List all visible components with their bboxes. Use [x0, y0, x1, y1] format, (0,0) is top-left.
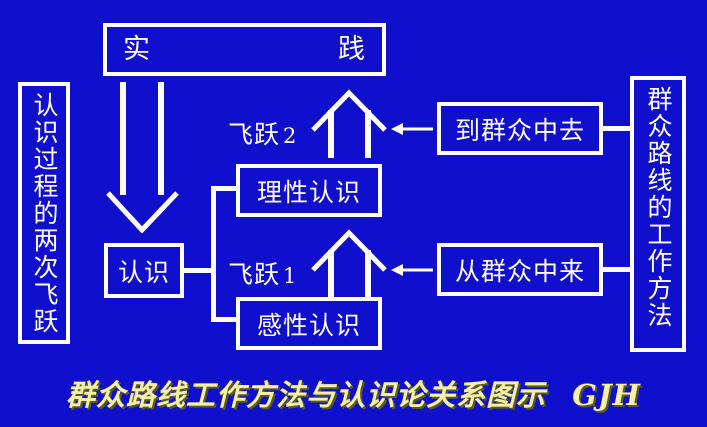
label-leap-one: 飞跃1: [228, 255, 297, 291]
node-perceptual-cognition[interactable]: 感性认识: [236, 297, 382, 350]
connector-bracket-spine: [211, 186, 216, 322]
practice-left-char: 实: [123, 36, 151, 63]
node-practice[interactable]: 实 践: [103, 23, 386, 76]
arrow-left-icon: [391, 260, 435, 280]
arrow-left-icon: [391, 119, 435, 139]
node-to-the-masses-label: 到群众中去: [455, 111, 585, 147]
connector-from-masses-to-right-panel: [601, 267, 633, 272]
diagram-caption: 群众路线工作方法与认识论关系图示GJH: [0, 372, 707, 414]
diagram-canvas: 实 践 认识过程的两次飞跃 群众路线的工作方法 认识 理性认识 感性认识 飞跃2: [0, 0, 707, 427]
connector-to-masses-to-right-panel: [601, 126, 633, 131]
label-leap-two: 飞跃2: [228, 115, 297, 151]
node-rational-cognition-label: 理性认识: [257, 173, 361, 209]
label-leap-one-number: 1: [280, 264, 297, 288]
caption-title: 群众路线工作方法与认识论关系图示: [66, 378, 546, 412]
panel-mass-line-work-method[interactable]: 群众路线的工作方法: [630, 76, 686, 352]
label-leap-one-text: 飞跃: [228, 260, 280, 289]
node-perceptual-cognition-label: 感性认识: [257, 306, 361, 342]
arrow-down-hollow-icon: [106, 80, 180, 233]
caption-signature: GJH: [546, 378, 641, 412]
connector-bracket-to-rational: [211, 186, 239, 191]
node-from-the-masses[interactable]: 从群众中来: [437, 243, 603, 296]
node-cognition[interactable]: 认识: [104, 243, 184, 298]
node-rational-cognition[interactable]: 理性认识: [236, 164, 382, 217]
connector-bracket-to-perceptual: [211, 317, 239, 322]
practice-right-char: 践: [338, 36, 366, 63]
arrow-up-hollow-icon: [311, 88, 387, 160]
arrow-up-hollow-icon: [311, 228, 387, 300]
node-to-the-masses[interactable]: 到群众中去: [437, 102, 603, 155]
panel-mass-line-label: 群众路线的工作方法: [645, 86, 671, 329]
panel-two-leaps-label: 认识过程的两次飞跃: [31, 92, 57, 335]
node-from-the-masses-label: 从群众中来: [455, 252, 585, 288]
node-cognition-label: 认识: [118, 253, 170, 289]
label-leap-two-number: 2: [280, 124, 297, 148]
label-leap-two-text: 飞跃: [228, 120, 280, 149]
panel-two-leaps-of-cognition[interactable]: 认识过程的两次飞跃: [18, 82, 70, 344]
